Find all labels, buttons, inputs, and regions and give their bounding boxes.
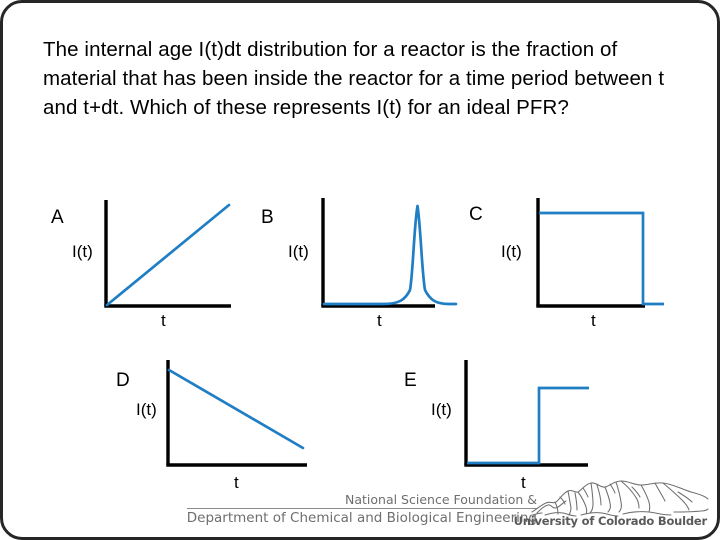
option-chart-a[interactable] [98,196,313,331]
option-chart-c[interactable] [530,196,720,331]
curve-c-step-down [539,213,664,304]
curve-d-decreasing-linear [169,370,303,448]
option-letter-d: D [116,371,130,390]
option-letter-e: E [404,371,417,390]
footer-credit: National Science Foundation & Department… [187,492,537,527]
footer-line-nsf: National Science Foundation & [187,492,537,508]
slide-footer: National Science Foundation & Department… [3,479,720,531]
curve-e-step-up [467,388,589,463]
slide-frame: The internal age I(t)dt distribution for… [0,0,720,540]
curve-b-sharp-peak [324,206,456,304]
y-axis-label-c: I(t) [501,243,522,260]
option-letter-c: C [469,205,483,224]
y-axis-label-e: I(t) [431,401,452,418]
option-chart-e[interactable] [458,358,673,493]
y-axis-label-b: I(t) [288,243,309,260]
y-axis-label-a: I(t) [72,243,93,260]
cu-boulder-wordmark: University of Colorado Boulder [514,514,707,528]
question-text: The internal age I(t)dt distribution for… [43,35,683,122]
option-letter-b: B [261,208,274,227]
curve-a-increasing-linear [107,205,229,305]
option-chart-b[interactable] [315,196,530,331]
option-letter-a: A [51,208,64,227]
footer-line-department: Department of Chemical and Biological En… [187,508,537,527]
y-axis-label-d: I(t) [136,401,157,418]
option-chart-d[interactable] [160,358,375,493]
